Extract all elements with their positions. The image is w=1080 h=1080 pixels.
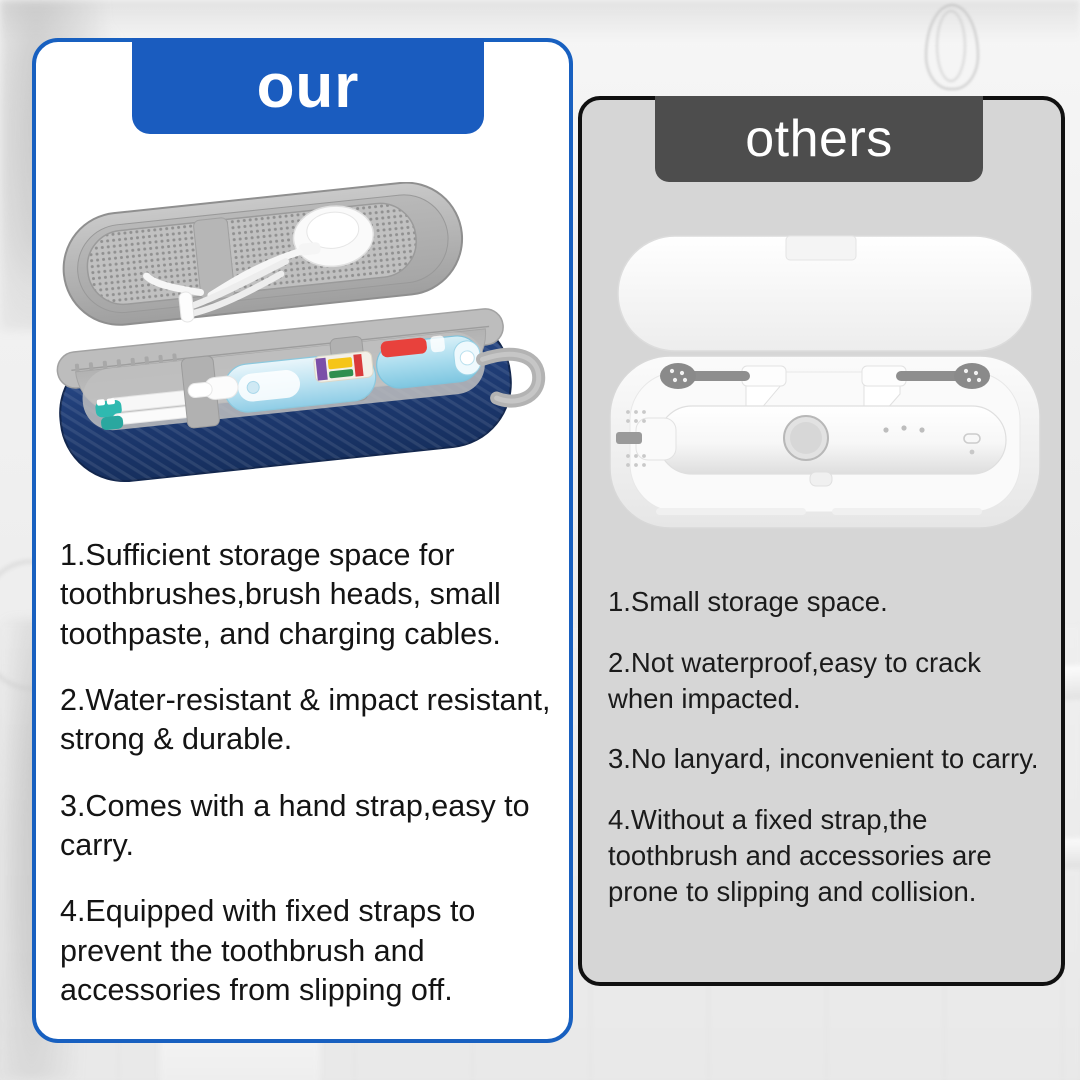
list-item: 4.Equipped with fixed straps to prevent … [60,892,553,1010]
our-badge-label: our [257,51,360,122]
list-item: 1.Small storage space. [608,584,1041,620]
our-panel: our [32,38,573,1043]
others-feature-list: 1.Small storage space. 2.Not waterproof,… [608,584,1041,934]
others-product-photo [596,220,1054,560]
list-item: 3.No lanyard, inconvenient to carry. [608,741,1041,777]
our-badge: our [132,38,484,134]
others-badge-label: others [745,109,893,169]
others-badge: others [655,96,983,182]
others-panel: others [578,96,1065,986]
list-item: 2.Water-resistant & impact resistant, st… [60,681,553,760]
our-feature-list: 1.Sufficient storage space for toothbrus… [60,536,553,1037]
list-item: 4.Without a fixed strap,the toothbrush a… [608,802,1041,909]
hanging-loop-inner-icon [936,10,966,82]
list-item: 1.Sufficient storage space for toothbrus… [60,536,553,654]
our-product-photo [50,182,562,512]
list-item: 2.Not waterproof,easy to crack when impa… [608,645,1041,717]
background-top-strip [0,0,1080,42]
list-item: 3.Comes with a hand strap,easy to carry. [60,787,553,866]
